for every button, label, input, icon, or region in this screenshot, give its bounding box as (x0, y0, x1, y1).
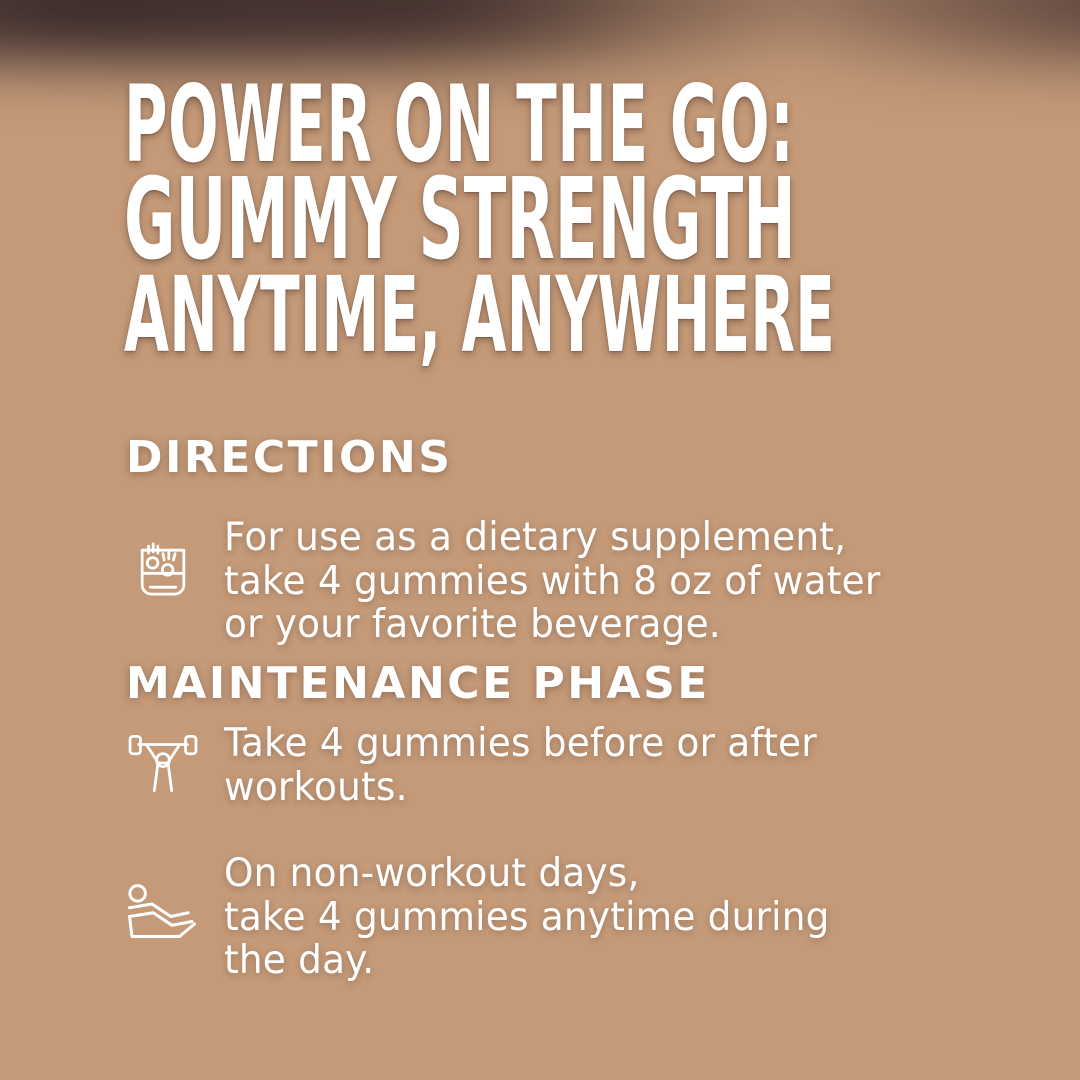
section-heading-directions: DIRECTIONS (126, 432, 452, 483)
maintenance-item-rest-day-text: On non-workout days, take 4 gummies anyt… (224, 852, 830, 983)
reclining-person-icon (122, 874, 202, 954)
section-heading-maintenance-phase: MAINTENANCE PHASE (126, 658, 710, 709)
maintenance-item-workout: Take 4 gummies before or after workouts. (126, 722, 842, 809)
supplement-directions-poster: POWER ON THE GO: GUMMY STRENGTH ANYTIME,… (0, 0, 1080, 1080)
title-line-3: ANYTIME, ANYWHERE (124, 270, 600, 362)
weightlifter-icon (126, 726, 200, 800)
maintenance-item-rest-day: On non-workout days, take 4 gummies anyt… (122, 852, 855, 983)
directions-item-text: For use as a dietary supplement, take 4 … (224, 516, 880, 647)
glass-of-water-icon (126, 534, 200, 608)
maintenance-item-workout-text: Take 4 gummies before or after workouts. (224, 722, 817, 809)
poster-title: POWER ON THE GO: GUMMY STRENGTH ANYTIME,… (124, 78, 974, 361)
directions-item: For use as a dietary supplement, take 4 … (126, 516, 908, 647)
